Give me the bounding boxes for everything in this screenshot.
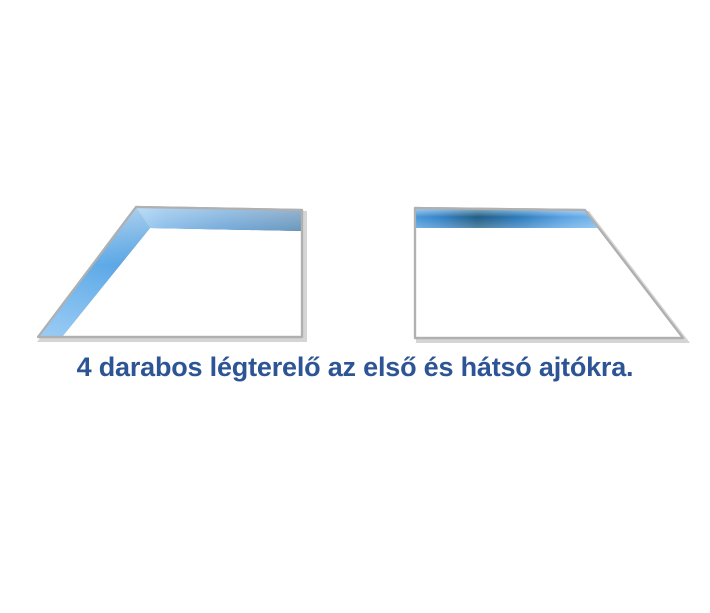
product-figure: 4 darabos légterelő az első és hátsó ajt… (0, 0, 710, 613)
rear-deflector-sheen (415, 208, 599, 228)
figure-caption: 4 darabos légterelő az első és hátsó ajt… (0, 352, 710, 383)
front-door-deflector-group (38, 207, 305, 340)
deflector-shapes-stage (0, 0, 710, 400)
rear-door-deflector-group (415, 208, 686, 341)
deflector-svg (0, 0, 710, 400)
